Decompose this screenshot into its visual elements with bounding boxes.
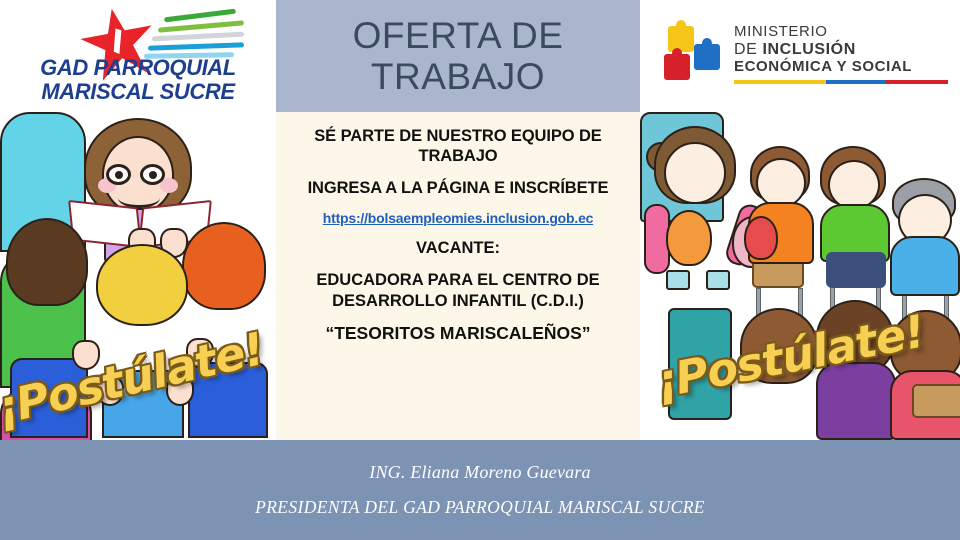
job-details-panel: SÉ PARTE DE NUESTRO EQUIPO DE TRABAJO IN… [276, 112, 640, 440]
mies-line1: MINISTERIO [734, 24, 948, 41]
mies-ministry-logo: MINISTERIO DE INCLUSIÓN ECONÓMICA Y SOCI… [640, 0, 960, 112]
page-title: OFERTA DE TRABAJO [276, 2, 640, 110]
application-url-link[interactable]: https://bolsaempleomies.inclusion.gob.ec [286, 210, 630, 226]
puzzle-piece-yellow-icon [668, 26, 694, 52]
wave-gray-icon [152, 32, 244, 42]
apron-pocket-right [706, 270, 730, 290]
puzzle-piece-blue-icon [694, 44, 720, 70]
register-instruction-text: INGRESA A LA PÁGINA E INSCRÍBETE [286, 178, 630, 198]
page-title-line2: TRABAJO [371, 56, 545, 97]
mies-line3: ECONÓMICA Y SOCIAL [734, 59, 948, 76]
vacancy-label: VACANTE: [286, 239, 630, 258]
classroom-teacher-face [664, 142, 726, 204]
child2-hair [96, 244, 188, 326]
child-red-face [756, 158, 806, 208]
cdi-name-text: “TESORITOS MARISCALEÑOS” [286, 323, 630, 344]
flag-stripe-blue [826, 80, 886, 84]
puzzle-piece-red-icon [664, 54, 690, 80]
mies-logo-text: MINISTERIO DE INCLUSIÓN ECONÓMICA Y SOCI… [734, 24, 948, 76]
hand-puppet-red [744, 216, 778, 260]
chair-back-1 [752, 260, 804, 288]
teacher-eye-left [115, 171, 123, 179]
mies-line2: DE INCLUSIÓN [734, 41, 948, 59]
wave-green-icon [164, 9, 236, 23]
child1-hair [6, 218, 88, 306]
mies-line2-light: DE [734, 41, 762, 58]
star-with-waves-icon [78, 4, 268, 56]
hand-puppet-orange [666, 210, 712, 266]
ecuador-flag-underline [734, 80, 948, 84]
child-blue-shirt [890, 236, 960, 296]
wave-lightgreen-icon [158, 20, 244, 32]
gad-logo-text: GAD PARROQUIAL MARISCAL SUCRE [0, 56, 276, 104]
child3-hair [182, 222, 266, 310]
chair-back-4 [912, 384, 960, 418]
mies-line2-bold: INCLUSIÓN [762, 41, 855, 58]
job-offer-poster: GAD PARROQUIAL MARISCAL SUCRE OFERTA DE … [0, 0, 960, 540]
wave-blue-icon [148, 42, 244, 50]
gad-parroquial-logo: GAD PARROQUIAL MARISCAL SUCRE [0, 0, 276, 112]
page-title-line1: OFERTA DE [353, 15, 564, 56]
gad-logo-line2: MARISCAL SUCRE [0, 80, 276, 104]
footer-band: ING. Eliana Moreno Guevara PRESIDENTA DE… [0, 440, 960, 540]
signatory-role: PRESIDENTA DEL GAD PARROQUIAL MARISCAL S… [255, 497, 705, 518]
signatory-name: ING. Eliana Moreno Guevara [369, 462, 591, 483]
child-green-face [828, 160, 880, 210]
flag-stripe-yellow [734, 80, 826, 84]
apron-pocket-left [666, 270, 690, 290]
team-invite-text: SÉ PARTE DE NUESTRO EQUIPO DE TRABAJO [286, 126, 630, 166]
teacher-eye-right [149, 171, 157, 179]
flag-stripe-red [886, 80, 948, 84]
child-green-pants [826, 252, 886, 288]
gad-logo-line1: GAD PARROQUIAL [0, 56, 276, 80]
vacancy-position-text: EDUCADORA PARA EL CENTRO DE DESARROLLO I… [286, 270, 630, 310]
